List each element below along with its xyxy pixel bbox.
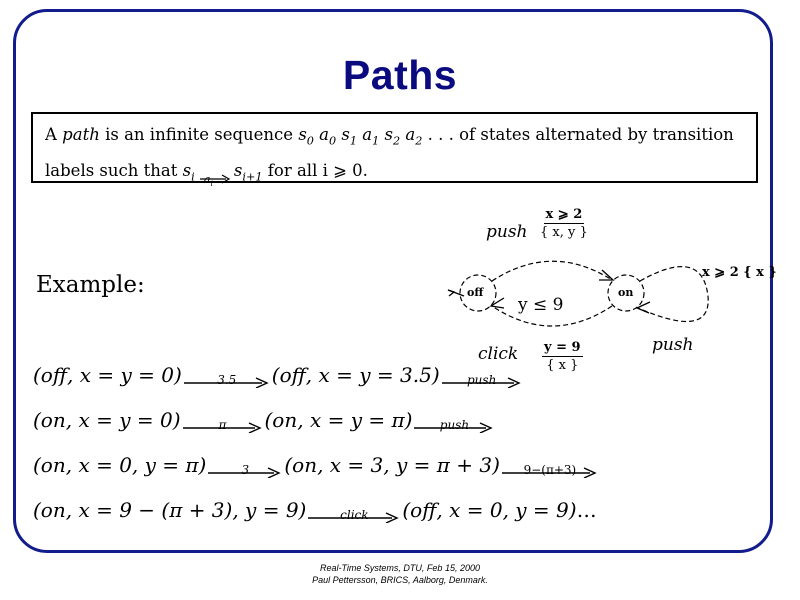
path-row-4-from: (on, x = 9 − (π + 3), y = 9) — [33, 498, 306, 522]
edge-off-to-on — [492, 261, 612, 281]
path-row-2-arrow-2: push — [414, 411, 494, 433]
footer-line-1: Real-Time Systems, DTU, Feb 15, 2000 — [0, 563, 800, 575]
transition-action-push-loop: push — [652, 335, 694, 355]
definition-text-b: is an infinite sequence — [100, 125, 298, 144]
transition-guard-reset-on-to-off: y = 9 { x } — [542, 340, 583, 373]
definition-line2: labels such that si ai si+1 for all i ⩾ … — [45, 161, 368, 180]
state-label-off[interactable]: off — [467, 286, 483, 299]
path-row-3: (on, x = 0, y = π) 3 (on, x = 3, y = π +… — [33, 453, 600, 478]
definition-text-e: for all i ⩾ 0. — [263, 161, 368, 180]
slide: Paths A path is an infinite sequence s0 … — [0, 0, 800, 600]
definition-text-d: labels such that — [45, 161, 183, 180]
path-row-4-arrow-1: click — [308, 501, 400, 523]
definition-box: A path is an infinite sequence s0 a0 s1 … — [31, 112, 758, 183]
path-row-4-arrow-1-label: click — [308, 509, 400, 521]
path-row-2-mid: (on, x = y = π) — [265, 408, 413, 432]
definition-text: A path is an infinite sequence s0 a0 s1 … — [45, 120, 751, 193]
path-row-2: (on, x = y = 0) π (on, x = y = π) push — [33, 408, 496, 433]
definition-term-path: path — [62, 125, 100, 144]
path-row-1-arrow-1-label: 3.5 — [184, 374, 270, 386]
path-row-1: (off, x = y = 0) 3.5 (off, x = y = 3.5) … — [33, 363, 524, 388]
transition-action-click: click — [478, 344, 518, 364]
guard-off-to-on: x ⩾ 2 — [544, 207, 585, 224]
definition-si: si — [183, 161, 195, 180]
reset-on-to-off: { x } — [542, 357, 583, 373]
path-row-3-arrow-1-label: 3 — [208, 464, 282, 476]
arrow-icon — [200, 174, 234, 184]
path-row-2-from: (on, x = y = 0) — [33, 408, 181, 432]
definition-line1: A path is an infinite sequence s0 a0 s1 … — [45, 125, 734, 144]
timed-automaton-diagram: off on push x ⩾ 2 { x, y } y ≤ 9 click y… — [430, 200, 790, 380]
path-row-1-arrow-2-label: push — [442, 374, 522, 386]
footer-line-2: Paul Pettersson, BRICS, Aalborg, Denmark… — [0, 575, 800, 587]
guard-on-to-off: y = 9 — [542, 340, 583, 357]
path-row-2-arrow-2-label: push — [414, 419, 494, 431]
path-row-2-arrow-1: π — [183, 411, 263, 433]
footer: Real-Time Systems, DTU, Feb 15, 2000 Pau… — [0, 563, 800, 586]
definition-text-c: of states alternated by transition — [454, 125, 734, 144]
reset-off-to-on: { x, y } — [540, 224, 588, 240]
path-row-2-arrow-1-label: π — [183, 419, 263, 431]
path-row-4-mid: (off, x = 0, y = 9) — [402, 498, 576, 522]
path-row-3-arrow-2: 9−(π+3) — [502, 456, 598, 478]
definition-text-a: A — [45, 125, 62, 144]
transition-guard-reset-self-loop: x ⩾ 2 { x } — [702, 264, 777, 281]
path-row-3-from: (on, x = 0, y = π) — [33, 453, 206, 477]
path-row-4-tail: … — [577, 498, 597, 522]
path-row-4: (on, x = 9 − (π + 3), y = 9) click (off,… — [33, 498, 597, 523]
invariant-on: y ≤ 9 — [518, 295, 563, 315]
reset-self-loop: { x } — [743, 265, 777, 280]
page-title: Paths — [0, 52, 800, 99]
path-row-3-mid: (on, x = 3, y = π + 3) — [284, 453, 500, 477]
definition-si1: si+1 — [234, 161, 263, 180]
definition-sequence: s0 a0 s1 a1 s2 a2 — [298, 125, 422, 144]
transition-action-push-top: push — [486, 222, 528, 242]
path-row-1-from: (off, x = y = 0) — [33, 363, 182, 387]
state-label-on[interactable]: on — [618, 286, 633, 299]
path-row-1-mid: (off, x = y = 3.5) — [272, 363, 440, 387]
path-row-3-arrow-1: 3 — [208, 456, 282, 478]
example-label: Example: — [36, 272, 145, 298]
path-row-3-arrow-2-label: 9−(π+3) — [502, 464, 598, 476]
path-row-1-arrow-1: 3.5 — [184, 366, 270, 388]
guard-self-loop: x ⩾ 2 — [702, 265, 739, 280]
transition-guard-reset-off-to-on: x ⩾ 2 { x, y } — [540, 207, 588, 240]
path-row-1-arrow-2: push — [442, 366, 522, 388]
